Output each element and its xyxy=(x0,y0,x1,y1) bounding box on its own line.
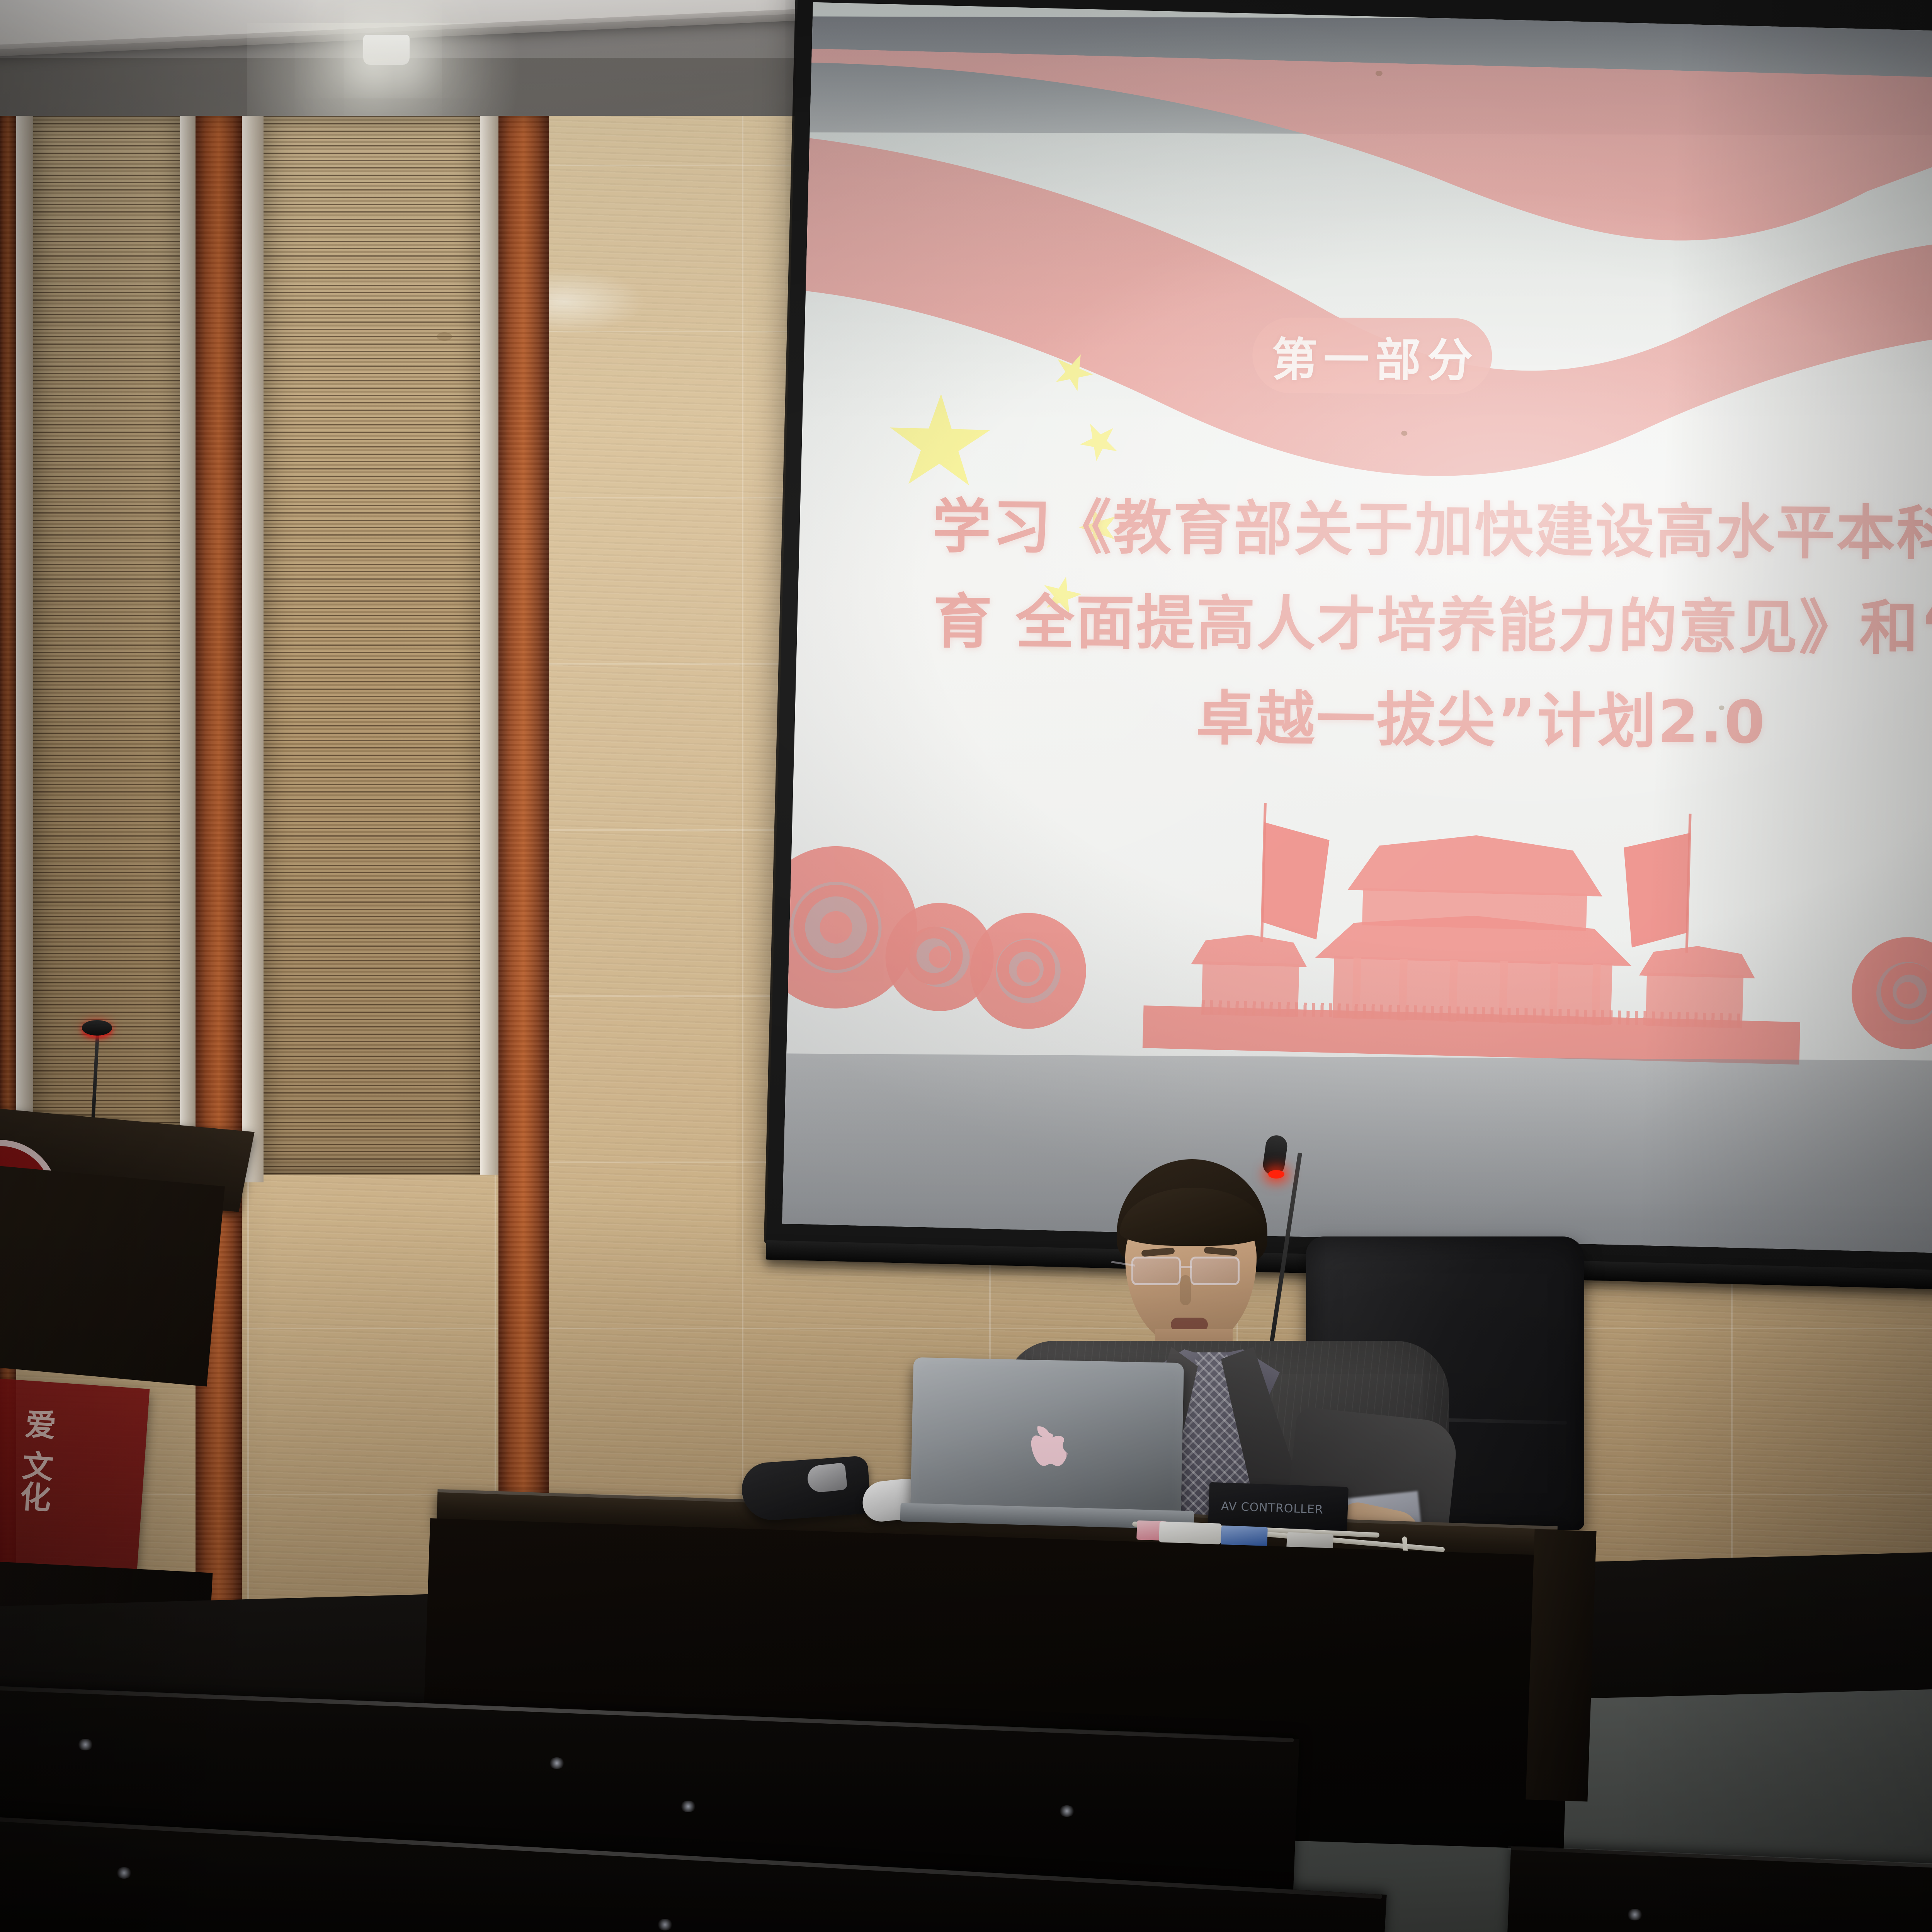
table-highlight-6 xyxy=(657,1919,673,1930)
projection-screen: 第一部分 学习《教育部关于加快建设高水平本科教 育 全面提高人才培养能力的意见》… xyxy=(766,0,1932,1277)
cloud-decoration-row xyxy=(787,822,1932,1073)
table-highlight-7 xyxy=(1627,1909,1643,1920)
connector-white xyxy=(1159,1521,1221,1544)
lecture-hall-photo: 第一部分 学习《教育部关于加快建设高水平本科教 育 全面提高人才培养能力的意见》… xyxy=(0,0,1932,1932)
slide-title-line-3: 卓越一拔尖”计划2.0 xyxy=(796,668,1932,773)
slat-panel-frame-3 xyxy=(242,116,264,1182)
slide-title-line-1: 学习《教育部关于加快建设高水平本科教 xyxy=(798,478,1932,583)
presentation-slide: 第一部分 学习《教育部关于加快建设高水平本科教 育 全面提高人才培养能力的意见》… xyxy=(782,2,1932,1259)
presenter-nose xyxy=(1180,1275,1191,1305)
slat-panel-2 xyxy=(264,116,480,1175)
flag-star-small-2 xyxy=(1071,414,1127,469)
podium-microphone-head xyxy=(82,1020,112,1036)
slide-title-block: 学习《教育部关于加快建设高水平本科教 育 全面提高人才培养能力的意见》和“六 卓… xyxy=(796,478,1932,773)
table-highlight-1 xyxy=(77,1739,94,1750)
table-highlight-5 xyxy=(116,1867,132,1879)
table-highlight-2 xyxy=(549,1757,565,1769)
wall-blemish-1 xyxy=(437,332,452,341)
slat-panel-frame-4 xyxy=(480,116,498,1175)
section-badge: 第一部分 xyxy=(1252,317,1492,394)
lectern-desk-side xyxy=(1526,1529,1596,1802)
ceiling-spotlight xyxy=(363,35,410,65)
table-highlight-4 xyxy=(1059,1805,1075,1817)
eyeglasses-lens-left xyxy=(1131,1257,1181,1285)
connector-blue xyxy=(1221,1526,1268,1547)
eyeglasses-bridge xyxy=(1181,1266,1192,1268)
slide-title-line-2: 育 全面提高人才培养能力的意见》和“六 xyxy=(797,573,1932,678)
table-highlight-3 xyxy=(680,1801,696,1812)
section-badge-label: 第一部分 xyxy=(1265,322,1479,389)
eyeglasses-lens-right xyxy=(1190,1257,1240,1285)
accessory-pouch[interactable] xyxy=(740,1456,871,1522)
